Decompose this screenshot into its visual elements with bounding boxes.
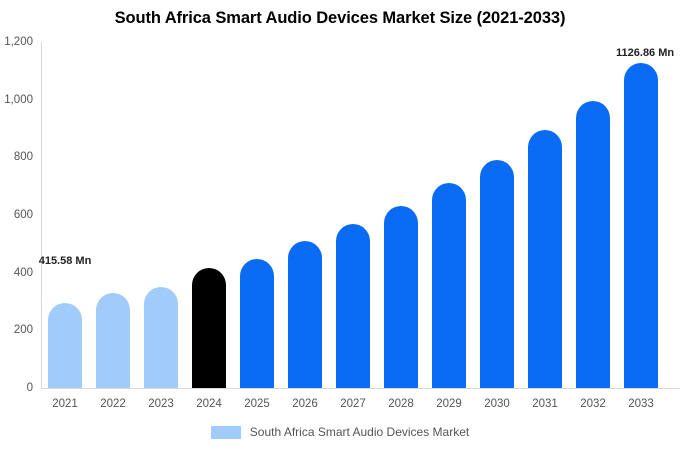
x-axis-tick-2025: 2025 <box>244 398 270 410</box>
bar-2029[interactable] <box>432 183 466 388</box>
chart-legend: South Africa Smart Audio Devices Market <box>0 425 680 439</box>
x-axis-tick-2022: 2022 <box>100 398 126 410</box>
y-axis-tick-400: 400 <box>14 267 33 279</box>
bar-2026[interactable] <box>288 241 322 388</box>
x-axis-tick-2024: 2024 <box>196 398 222 410</box>
bar-value-label-2024: 415.58 Mn <box>39 255 92 267</box>
bar-2022[interactable] <box>96 293 130 388</box>
x-axis-tick-2028: 2028 <box>388 398 414 410</box>
x-axis-tick-2032: 2032 <box>580 398 606 410</box>
bar-2032[interactable] <box>576 101 610 388</box>
x-axis-tick-2026: 2026 <box>292 398 318 410</box>
y-axis-tick-0: 0 <box>27 382 33 394</box>
chart-title: South Africa Smart Audio Devices Market … <box>0 9 680 28</box>
x-axis-line <box>41 388 680 389</box>
chart-container: South Africa Smart Audio Devices Market … <box>0 0 680 450</box>
bar-2030[interactable] <box>480 160 514 388</box>
x-axis-tick-2033: 2033 <box>628 398 654 410</box>
bar-2027[interactable] <box>336 224 370 388</box>
x-axis-tick-2021: 2021 <box>52 398 78 410</box>
x-axis-tick-2030: 2030 <box>484 398 510 410</box>
y-axis-tick-1000: 1,000 <box>4 94 33 106</box>
bar-2031[interactable] <box>528 130 562 388</box>
y-axis-tick-1200: 1,200 <box>4 36 33 48</box>
x-axis-tick-2029: 2029 <box>436 398 462 410</box>
bar-2023[interactable] <box>144 287 178 389</box>
y-axis-tick-600: 600 <box>14 209 33 221</box>
bar-2028[interactable] <box>384 206 418 388</box>
x-axis-tick-labels: 2021 2022 2023 2024 2025 2026 2027 2028 … <box>41 398 680 418</box>
bar-value-label-2033: 1126.86 Mn <box>616 47 674 59</box>
bars-layer: 415.58 Mn 1126.86 Mn <box>41 42 680 388</box>
bar-2021[interactable] <box>48 303 82 388</box>
bar-2025[interactable] <box>240 259 274 388</box>
bar-2033[interactable] <box>624 63 658 388</box>
x-axis-tick-2031: 2031 <box>532 398 558 410</box>
y-axis-tick-200: 200 <box>14 324 33 336</box>
legend-label-market[interactable]: South Africa Smart Audio Devices Market <box>250 425 469 439</box>
x-axis-tick-2023: 2023 <box>148 398 174 410</box>
x-axis-tick-2027: 2027 <box>340 398 366 410</box>
bar-2024[interactable] <box>192 268 226 388</box>
y-axis-tick-labels: 1,200 1,000 800 600 400 200 0 <box>0 0 33 450</box>
legend-swatch-market[interactable] <box>211 426 241 439</box>
y-axis-tick-800: 800 <box>14 151 33 163</box>
